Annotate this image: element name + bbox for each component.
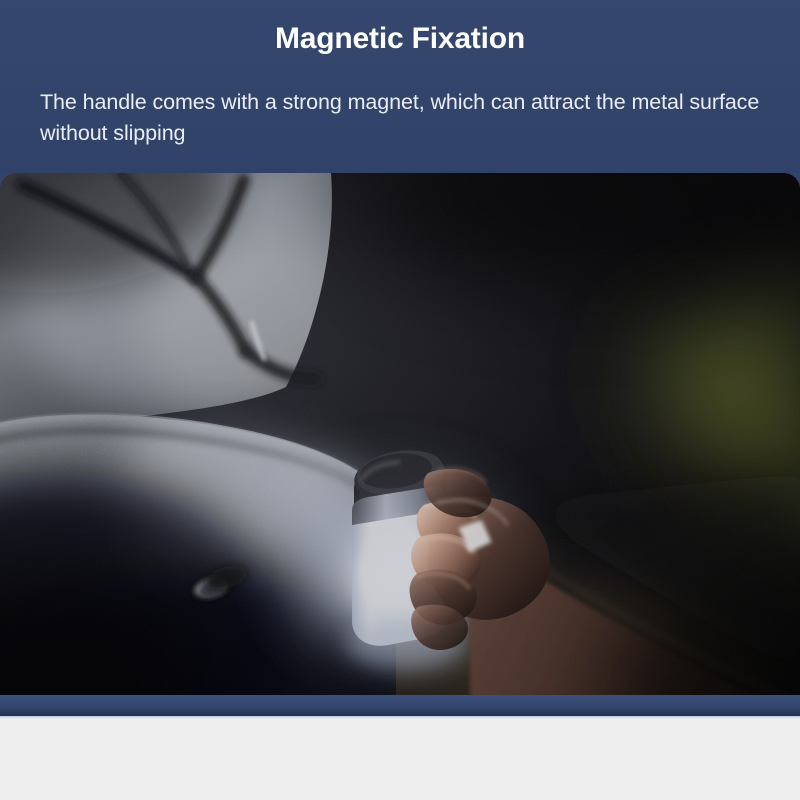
footer-whitespace <box>0 719 800 800</box>
product-feature-card: Magnetic Fixation The handle comes with … <box>0 0 800 800</box>
header-subtitle: The handle comes with a strong magnet, w… <box>40 87 794 149</box>
bottom-accent-band <box>0 695 800 717</box>
header-banner: Magnetic Fixation The handle comes with … <box>0 0 800 174</box>
product-photo <box>0 173 800 697</box>
photo-illustration <box>0 173 800 697</box>
page-title: Magnetic Fixation <box>0 22 800 55</box>
